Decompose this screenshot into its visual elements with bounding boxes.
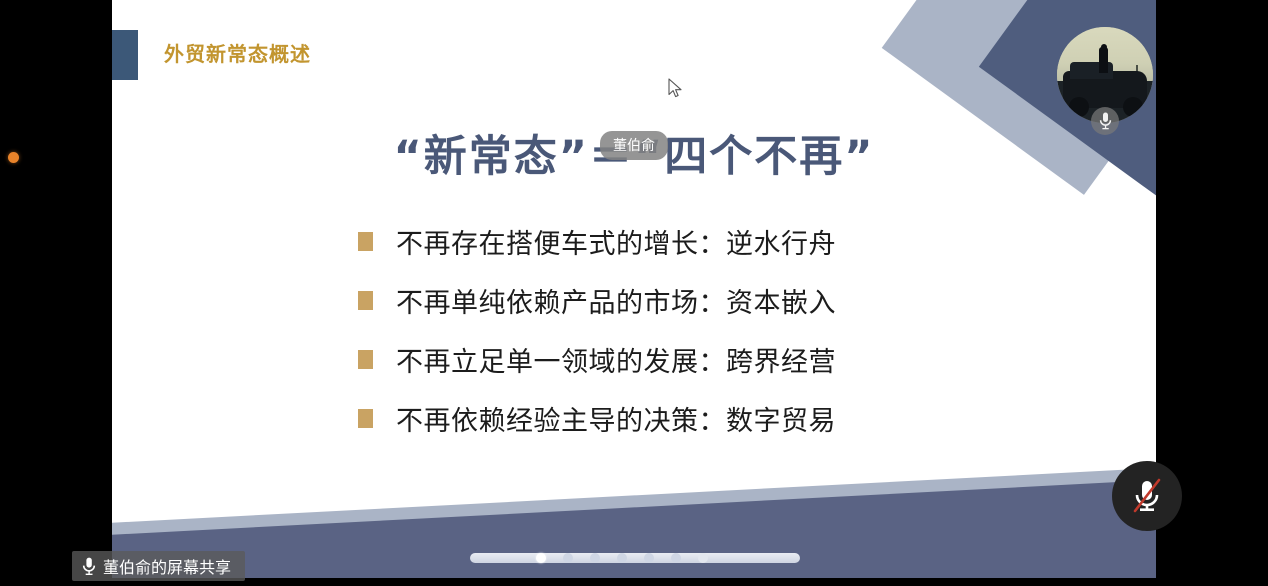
- list-item: 不再存在搭便车式的增长：逆水行舟: [358, 212, 1058, 271]
- slide-header-title: 外贸新常态概述: [164, 38, 311, 67]
- screen-share-viewport: 外贸新常态概述 “新常态”＝“四个不再” 不再存在搭便车式的增长：逆水行舟 不再…: [0, 0, 1268, 586]
- list-item-label: 不再依赖经验主导的决策：数字贸易: [396, 399, 836, 438]
- microphone-icon: [82, 557, 96, 576]
- mute-toggle-button[interactable]: [1112, 461, 1182, 531]
- screen-share-status-label: 董伯俞的屏幕共享: [72, 551, 245, 581]
- square-bullet-icon: [358, 291, 373, 310]
- slide-nav-dot[interactable]: [671, 553, 681, 563]
- participant-status-dot: [8, 152, 19, 163]
- participant-video-tile[interactable]: [1057, 27, 1153, 123]
- square-bullet-icon: [358, 232, 373, 251]
- avatar-wheel: [1069, 97, 1089, 117]
- microphone-icon: [1091, 107, 1119, 135]
- list-item: 不再立足单一领域的发展：跨界经营: [358, 330, 1058, 389]
- list-item: 不再单纯依赖产品的市场：资本嵌入: [358, 271, 1058, 330]
- participant-name-badge: 董伯俞: [600, 131, 668, 160]
- slide-progress-bar[interactable]: [470, 553, 800, 563]
- slide-nav-dot[interactable]: [617, 553, 627, 563]
- square-bullet-icon: [358, 409, 373, 428]
- square-bullet-icon: [358, 350, 373, 369]
- slide-bullet-list: 不再存在搭便车式的增长：逆水行舟 不再单纯依赖产品的市场：资本嵌入 不再立足单一…: [358, 212, 1058, 448]
- slide-nav-dot[interactable]: [563, 553, 573, 563]
- list-item: 不再依赖经验主导的决策：数字贸易: [358, 389, 1058, 448]
- slide-nav-dot[interactable]: [644, 553, 654, 563]
- screen-share-status-text: 董伯俞的屏幕共享: [103, 554, 231, 578]
- slide-nav-dot[interactable]: [536, 553, 546, 563]
- list-item-label: 不再存在搭便车式的增长：逆水行舟: [396, 222, 836, 261]
- list-item-label: 不再立足单一领域的发展：跨界经营: [396, 340, 836, 379]
- avatar-person: [1099, 47, 1108, 73]
- slide-nav-dot[interactable]: [698, 553, 708, 563]
- slide-header-accent-bar: [112, 30, 138, 80]
- microphone-muted-icon: [1130, 476, 1164, 516]
- list-item-label: 不再单纯依赖产品的市场：资本嵌入: [396, 281, 836, 320]
- slide-nav-dot[interactable]: [590, 553, 600, 563]
- shared-slide: 外贸新常态概述 “新常态”＝“四个不再” 不再存在搭便车式的增长：逆水行舟 不再…: [112, 0, 1156, 578]
